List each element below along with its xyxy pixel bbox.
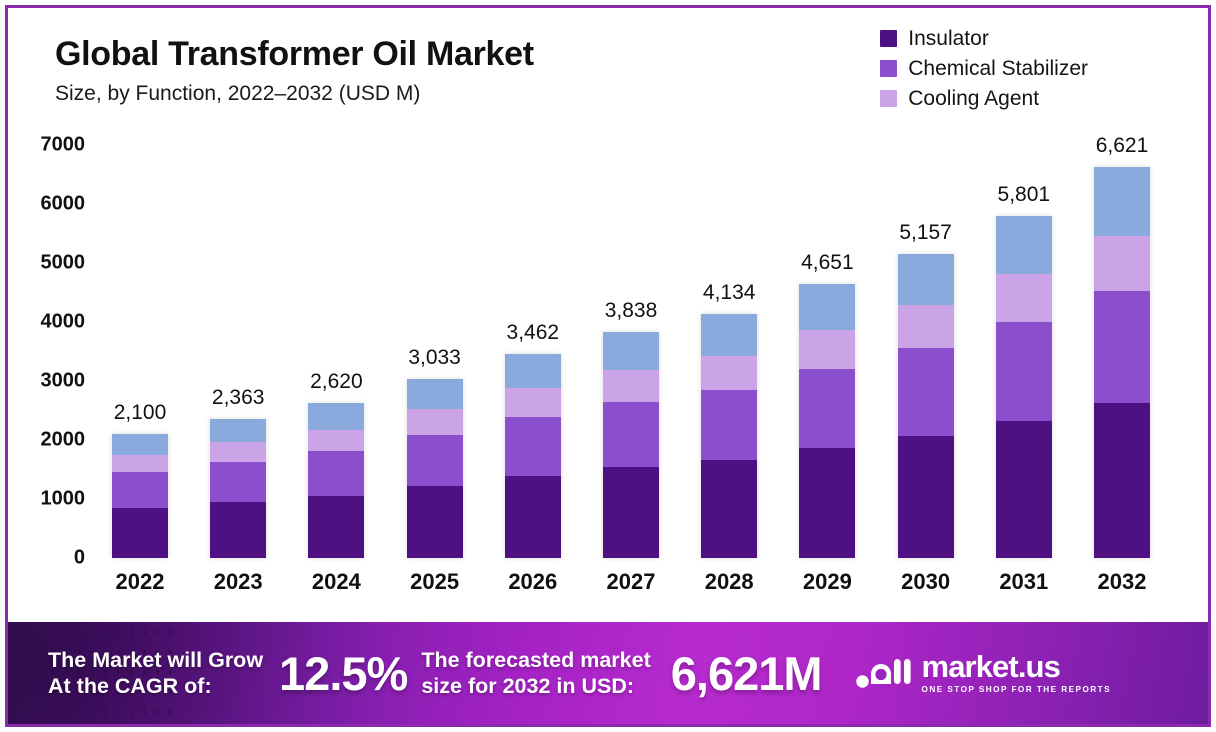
bar-segment-chemical-stabilizer[interactable] [603,402,659,468]
bar-value-label: 4,651 [801,251,854,275]
x-axis-tick-label: 2030 [898,569,954,595]
y-axis-tick-label: 7000 [0,134,85,157]
bar-value-label: 2,363 [212,386,265,410]
bar-value-label: 3,033 [408,346,461,370]
stacked-bar[interactable]: 2,100 [112,434,168,558]
y-axis-tick-label: 3000 [0,370,85,393]
forecast-caption: The forecasted market size for 2032 in U… [421,647,650,699]
stacked-bar[interactable]: 2,620 [308,403,364,558]
bar-group[interactable]: 6,621 [1094,167,1150,558]
cagr-caption: The Market will Grow At the CAGR of: [48,647,263,699]
bar-group[interactable]: 4,134 [701,314,757,558]
cagr-caption-line1: The Market will Grow [48,647,263,673]
bar-segment-other[interactable] [1094,167,1150,235]
bar-group[interactable]: 5,157 [898,254,954,558]
bar-group[interactable]: 2,620 [308,403,364,558]
bar-segment-other[interactable] [308,403,364,429]
bar-segment-cooling-agent[interactable] [996,274,1052,322]
x-axis-tick-label: 2031 [996,569,1052,595]
bar-segment-insulator[interactable] [799,448,855,558]
forecast-caption-line1: The forecasted market [421,647,650,673]
y-axis-tick-label: 4000 [0,311,85,334]
y-axis-tick-label: 6000 [0,193,85,216]
bar-segment-insulator[interactable] [505,476,561,558]
bar-value-label: 5,157 [899,221,952,245]
stacked-bar[interactable]: 3,462 [505,354,561,558]
x-axis-tick-label: 2028 [701,569,757,595]
x-axis-tick-label: 2029 [799,569,855,595]
stacked-bar[interactable]: 5,157 [898,254,954,558]
forecast-caption-line2: size for 2032 in USD: [421,673,650,699]
bar-value-label: 4,134 [703,281,756,305]
y-axis-tick-label: 2000 [0,429,85,452]
stacked-bar[interactable]: 4,651 [799,284,855,558]
bar-segment-cooling-agent[interactable] [210,442,266,462]
bar-segment-insulator[interactable] [701,460,757,558]
bar-segment-chemical-stabilizer[interactable] [898,348,954,436]
bar-segment-insulator[interactable] [308,496,364,558]
stacked-bar[interactable]: 6,621 [1094,167,1150,558]
bar-segment-cooling-agent[interactable] [799,330,855,368]
x-axis-tick-label: 2022 [112,569,168,595]
bar-group[interactable]: 2,363 [210,419,266,558]
bar-segment-other[interactable] [407,379,463,409]
stacked-bar[interactable]: 3,033 [407,379,463,558]
bar-segment-other[interactable] [701,314,757,355]
bar-segment-chemical-stabilizer[interactable] [308,451,364,496]
bar-value-label: 5,801 [998,183,1051,207]
bar-segment-insulator[interactable] [898,436,954,558]
bar-segment-other[interactable] [898,254,954,306]
market-us-logo-icon [856,651,912,696]
market-us-logo-text: market.us ONE STOP SHOP FOR THE REPORTS [922,651,1111,694]
footer-banner: The Market will Grow At the CAGR of: 12.… [8,622,1208,724]
bar-segment-chemical-stabilizer[interactable] [505,417,561,476]
stacked-bar[interactable]: 4,134 [701,314,757,558]
infographic-page: Global Transformer Oil Market Size, by F… [0,0,1216,732]
bar-group[interactable]: 2,100 [112,434,168,558]
logo-tagline: ONE STOP SHOP FOR THE REPORTS [922,686,1111,694]
x-axis-tick-label: 2023 [210,569,266,595]
x-axis-tick-label: 2027 [603,569,659,595]
cagr-caption-line2: At the CAGR of: [48,673,263,699]
bar-segment-chemical-stabilizer[interactable] [996,322,1052,421]
forecast-value: 6,621M [671,650,822,697]
bar-group[interactable]: 4,651 [799,284,855,558]
stacked-bar[interactable]: 5,801 [996,216,1052,558]
bar-value-label: 2,100 [114,401,167,425]
bar-segment-other[interactable] [112,434,168,455]
y-axis-tick-label: 1000 [0,488,85,511]
x-axis-tick-label: 2026 [505,569,561,595]
bar-segment-other[interactable] [799,284,855,331]
bar-segment-insulator[interactable] [112,508,168,558]
x-axis-tick-label: 2024 [308,569,364,595]
y-axis-tick-label: 0 [0,547,85,570]
bar-segment-chemical-stabilizer[interactable] [701,390,757,461]
bar-segment-other[interactable] [603,332,659,371]
bar-segment-insulator[interactable] [407,486,463,558]
bar-segment-chemical-stabilizer[interactable] [799,369,855,449]
cagr-value: 12.5% [279,650,407,697]
bar-group[interactable]: 5,801 [996,216,1052,558]
bar-group[interactable]: 3,838 [603,332,659,558]
bar-segment-cooling-agent[interactable] [898,305,954,348]
bar-segment-other[interactable] [210,419,266,443]
bar-segment-insulator[interactable] [210,502,266,558]
bar-segment-cooling-agent[interactable] [603,370,659,402]
bar-segment-cooling-agent[interactable] [1094,236,1150,291]
bar-segment-insulator[interactable] [603,467,659,558]
bar-value-label: 6,621 [1096,134,1149,158]
market-us-logo[interactable]: market.us ONE STOP SHOP FOR THE REPORTS [856,651,1111,696]
bar-segment-cooling-agent[interactable] [505,388,561,417]
bar-value-label: 3,838 [605,299,658,323]
bar-segment-other[interactable] [505,354,561,389]
bar-segment-cooling-agent[interactable] [701,356,757,390]
x-axis-tick-label: 2025 [407,569,463,595]
bar-segment-cooling-agent[interactable] [407,409,463,434]
bar-segment-chemical-stabilizer[interactable] [112,472,168,508]
bar-segment-insulator[interactable] [1094,403,1150,558]
bar-group[interactable]: 3,462 [505,354,561,558]
logo-name: market.us [922,651,1111,682]
x-axis-tick-label: 2032 [1094,569,1150,595]
bar-segment-cooling-agent[interactable] [112,455,168,472]
bar-group[interactable]: 3,033 [407,379,463,558]
y-axis-tick-label: 5000 [0,252,85,275]
bar-segment-insulator[interactable] [996,421,1052,558]
bar-segment-chemical-stabilizer[interactable] [1094,291,1150,403]
stacked-bar[interactable]: 3,838 [603,332,659,558]
bar-segment-chemical-stabilizer[interactable] [210,462,266,502]
bar-value-label: 2,620 [310,370,363,394]
bar-value-label: 3,462 [507,321,560,345]
bar-segment-chemical-stabilizer[interactable] [407,435,463,487]
stacked-bar[interactable]: 2,363 [210,419,266,558]
bar-segment-other[interactable] [996,216,1052,274]
bar-segment-cooling-agent[interactable] [308,430,364,452]
